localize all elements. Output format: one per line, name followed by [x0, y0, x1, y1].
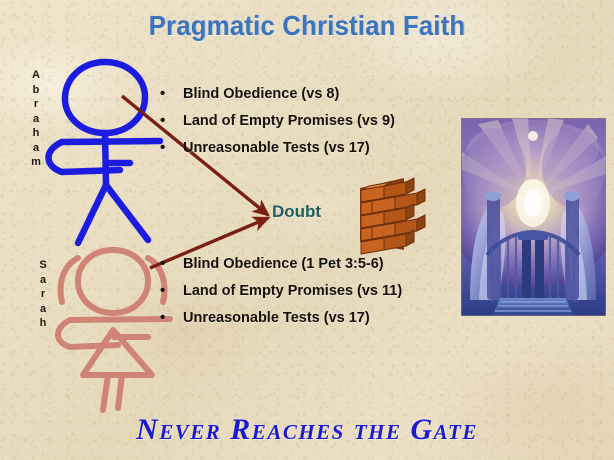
- paper-texture-overlay: [0, 0, 614, 460]
- list-item: • Blind Obedience (vs 8): [160, 86, 395, 113]
- label-abraham-letter: A: [29, 68, 43, 83]
- bullet-marker-icon: •: [160, 140, 183, 155]
- label-sarah: S a r a h: [36, 258, 50, 331]
- label-abraham: A b r a h a m: [29, 68, 43, 170]
- page-title: Pragmatic Christian Faith: [25, 10, 590, 42]
- label-sarah-letter: S: [36, 258, 50, 273]
- bullet-marker-icon: •: [160, 310, 183, 325]
- list-item-label: Land of Empty Promises (vs 9): [183, 113, 395, 129]
- label-abraham-letter: a: [29, 141, 43, 156]
- list-item: • Unreasonable Tests (vs 17): [160, 140, 395, 167]
- label-abraham-letter: a: [29, 112, 43, 127]
- bullet-marker-icon: •: [160, 256, 183, 271]
- bullet-marker-icon: •: [160, 86, 183, 101]
- stick-figure-sarah: [58, 250, 170, 410]
- list-item: • Blind Obedience (1 Pet 3:5-6): [160, 256, 402, 283]
- list-item: • Unreasonable Tests (vs 17): [160, 310, 402, 337]
- label-abraham-letter: b: [29, 83, 43, 98]
- label-sarah-letter: a: [36, 302, 50, 317]
- doubt-label: Doubt: [272, 202, 321, 222]
- list-item: • Land of Empty Promises (vs 11): [160, 283, 402, 310]
- label-abraham-letter: r: [29, 97, 43, 112]
- bullet-marker-icon: •: [160, 113, 183, 128]
- label-sarah-letter: h: [36, 316, 50, 331]
- illustration-layer: [0, 0, 614, 460]
- list-item-label: Blind Obedience (1 Pet 3:5-6): [183, 256, 384, 272]
- footer-text: Never Reaches the Gate: [0, 413, 614, 447]
- slide-canvas: Pragmatic Christian Faith A b r a h a m …: [0, 0, 614, 460]
- brick-wall: [360, 178, 425, 254]
- stick-figure-abraham: [49, 62, 161, 243]
- label-sarah-letter: a: [36, 273, 50, 288]
- label-abraham-letter: h: [29, 126, 43, 141]
- bullet-marker-icon: •: [160, 283, 183, 298]
- list-item-label: Land of Empty Promises (vs 11): [183, 283, 402, 299]
- label-sarah-letter: r: [36, 287, 50, 302]
- list-item: • Land of Empty Promises (vs 9): [160, 113, 395, 140]
- list-item-label: Blind Obedience (vs 8): [183, 86, 339, 102]
- bullet-list-abraham: • Blind Obedience (vs 8) • Land of Empty…: [160, 86, 395, 167]
- bullet-list-sarah: • Blind Obedience (1 Pet 3:5-6) • Land o…: [160, 256, 402, 337]
- list-item-label: Unreasonable Tests (vs 17): [183, 140, 370, 156]
- list-item-label: Unreasonable Tests (vs 17): [183, 310, 370, 326]
- label-abraham-letter: m: [29, 155, 43, 170]
- heavenly-gate-photo: [447, 118, 614, 316]
